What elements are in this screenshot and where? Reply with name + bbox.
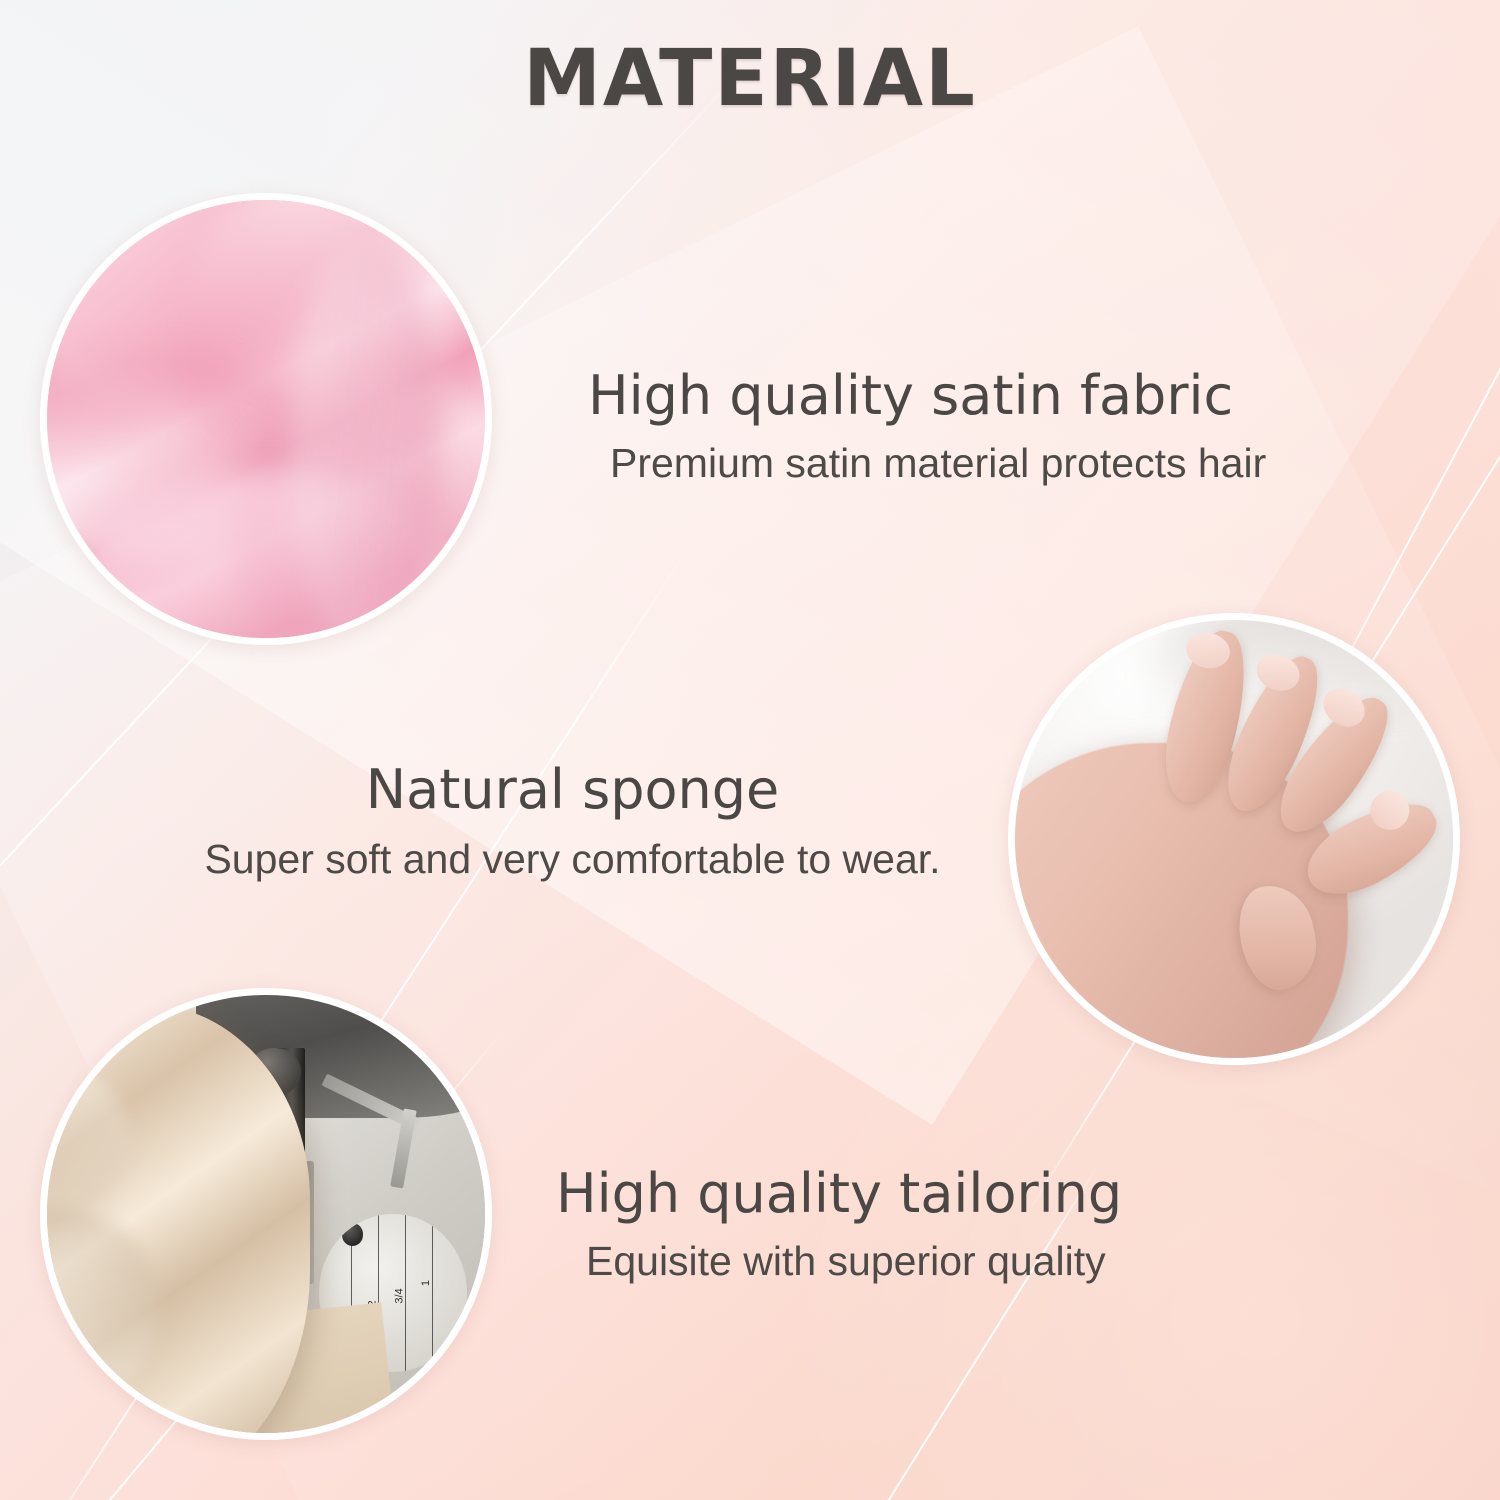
gauge-screw: [342, 1223, 363, 1245]
feature-text-sponge: Natural sponge Super soft and very comfo…: [185, 762, 960, 882]
sewing-machine-scene: 1/4 1/2 3/4 1: [47, 995, 485, 1433]
fabric-fold: [40, 1053, 130, 1230]
sponge-surface: [1015, 620, 1453, 1058]
feature-subline: Super soft and very comfortable to wear.: [185, 837, 960, 882]
feature-headline: High quality tailoring: [556, 1166, 1122, 1223]
gauge-label-one: 1: [420, 1280, 432, 1286]
satin-fold: [292, 235, 441, 645]
page-title: MATERIAL: [0, 34, 1500, 124]
feature-text-satin: High quality satin fabric Premium satin …: [588, 368, 1266, 486]
pink-satin-fabric-photo: [40, 193, 492, 645]
feature-subline: Premium satin material protects hair: [610, 441, 1266, 486]
feature-subline: Equisite with superior quality: [586, 1239, 1122, 1284]
feature-text-tailoring: High quality tailoring Equisite with sup…: [556, 1166, 1122, 1284]
infographic-canvas: MATERIAL: [0, 0, 1500, 1500]
sewing-machine-satin-photo: 1/4 1/2 3/4 1: [40, 988, 492, 1440]
satin-texture: [47, 200, 485, 638]
gauge-label-three-quarter: 3/4: [393, 1288, 405, 1303]
hand-pressing-white-sponge-photo: [1008, 613, 1460, 1065]
feature-headline: High quality satin fabric: [588, 368, 1266, 425]
feature-headline: Natural sponge: [185, 762, 960, 819]
